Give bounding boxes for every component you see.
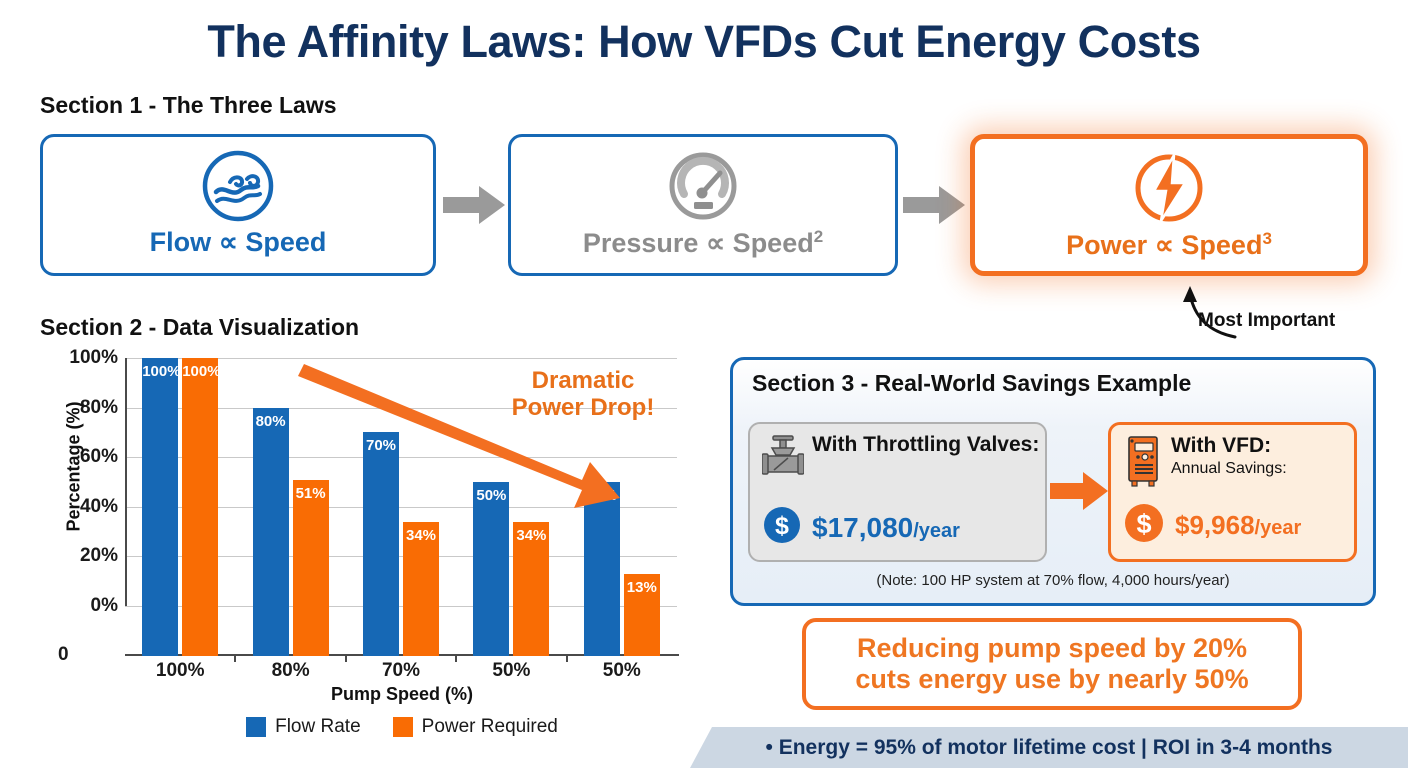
most-important-label: Most Important [1198,310,1335,332]
bottom-banner: • Energy = 95% of motor lifetime cost | … [690,727,1408,768]
bar-value-label: 34% [403,527,439,544]
bar-flow-rate: 80% [253,408,289,656]
throttle-card-amount: $17,080/year [812,512,960,544]
legend-label-power: Power Required [422,716,558,738]
vfd-card-amount: $9,968/year [1175,510,1301,541]
chart-legend: Flow Rate Power Required [125,716,679,738]
legend-swatch-flow [246,717,266,737]
x-tick-label: 50% [492,660,530,682]
vfd-card-header: With VFD: Annual Savings: [1123,435,1287,492]
bottom-banner-text: • Energy = 95% of motor lifetime cost | … [766,736,1333,760]
bar-value-label: 100% [182,363,218,380]
law-card-pressure-label: Pressure ∝ Speed2 [583,227,823,259]
vfd-card-amount-row: $ $9,968/year [1123,502,1301,549]
infographic-canvas: The Affinity Laws: How VFDs Cut Energy C… [0,0,1408,768]
savings-arrow-icon [1050,470,1108,512]
vfd-drive-icon [1123,435,1163,492]
throttling-valves-card[interactable]: With Throttling Valves: $ $17,080/year [748,422,1047,562]
x-tick-label: 80% [272,660,310,682]
x-tick-label: 70% [382,660,420,682]
y-tick-label: 100% [58,347,118,369]
wave-icon [200,147,276,225]
bar-value-label: 80% [253,413,289,430]
bar-flow-rate: 50% [584,482,620,656]
throttle-card-header: With Throttling Valves: [762,434,1039,483]
y-axis-baseline-label: 0 [58,644,69,666]
vfd-card-title-block: With VFD: Annual Savings: [1171,435,1287,478]
dollar-circle-icon: $ [1123,502,1165,549]
x-tick-mark [234,654,236,662]
bar-power-required: 13% [624,574,660,656]
vfd-card-subtitle: Annual Savings: [1171,460,1287,478]
law-card-flow-label: Flow ∝ Speed [150,227,327,258]
bar-value-label: 50% [584,487,620,504]
flow-arrow-2-icon [903,184,965,226]
law-card-flow[interactable]: Flow ∝ Speed [40,134,436,276]
legend-label-flow: Flow Rate [275,716,361,738]
y-axis-label: Percentage (%) [64,377,85,557]
bar-flow-rate: 70% [363,432,399,656]
x-tick-label: 100% [156,660,205,682]
x-tick-mark [455,654,457,662]
bar-value-label: 100% [142,363,178,380]
valve-icon [762,434,804,483]
bar-power-required: 34% [513,522,549,656]
bar-value-label: 50% [473,487,509,504]
section-1-heading: Section 1 - The Three Laws [40,92,337,119]
section-2-heading: Section 2 - Data Visualization [40,314,359,341]
bar-power-required: 51% [293,480,329,656]
svg-text:$: $ [1136,509,1151,539]
legend-swatch-power [393,717,413,737]
throttle-card-amount-row: $ $17,080/year [762,505,960,550]
section-3-heading: Section 3 - Real-World Savings Example [752,370,1191,397]
x-tick-mark [345,654,347,662]
bar-power-required: 34% [403,522,439,656]
vfd-savings-card[interactable]: With VFD: Annual Savings: $ $9,968/year [1108,422,1357,562]
vfd-card-title: With VFD: [1171,435,1287,458]
dramatic-drop-label: Dramatic Power Drop! [488,368,678,422]
key-takeaway-text: Reducing pump speed by 20% cuts energy u… [855,633,1248,696]
x-axis-label: Pump Speed (%) [125,684,679,705]
dollar-circle-icon: $ [762,505,802,550]
svg-text:$: $ [775,512,789,540]
flow-arrow-1-icon [443,184,505,226]
gauge-icon [665,147,741,225]
law-card-power-label: Power ∝ Speed3 [1066,229,1272,261]
bar-value-label: 34% [513,527,549,544]
bar-value-label: 51% [293,485,329,502]
y-tick-label: 0% [58,595,118,617]
throttle-card-title: With Throttling Valves: [812,434,1039,457]
bar-value-label: 70% [363,437,399,454]
bar-flow-rate: 100% [142,358,178,656]
law-card-pressure[interactable]: Pressure ∝ Speed2 [508,134,898,276]
key-takeaway-callout: Reducing pump speed by 20% cuts energy u… [802,618,1302,710]
section-3-note: (Note: 100 HP system at 70% flow, 4,000 … [740,572,1366,589]
lightning-bolt-icon [1130,149,1208,227]
legend-item-flow: Flow Rate [246,716,361,738]
x-tick-mark [566,654,568,662]
x-tick-label: 50% [603,660,641,682]
legend-item-power: Power Required [393,716,558,738]
bar-value-label: 13% [624,579,660,596]
law-card-power[interactable]: Power ∝ Speed3 [970,134,1368,276]
bar-power-required: 100% [182,358,218,656]
page-title: The Affinity Laws: How VFDs Cut Energy C… [0,16,1408,68]
bar-flow-rate: 50% [473,482,509,656]
